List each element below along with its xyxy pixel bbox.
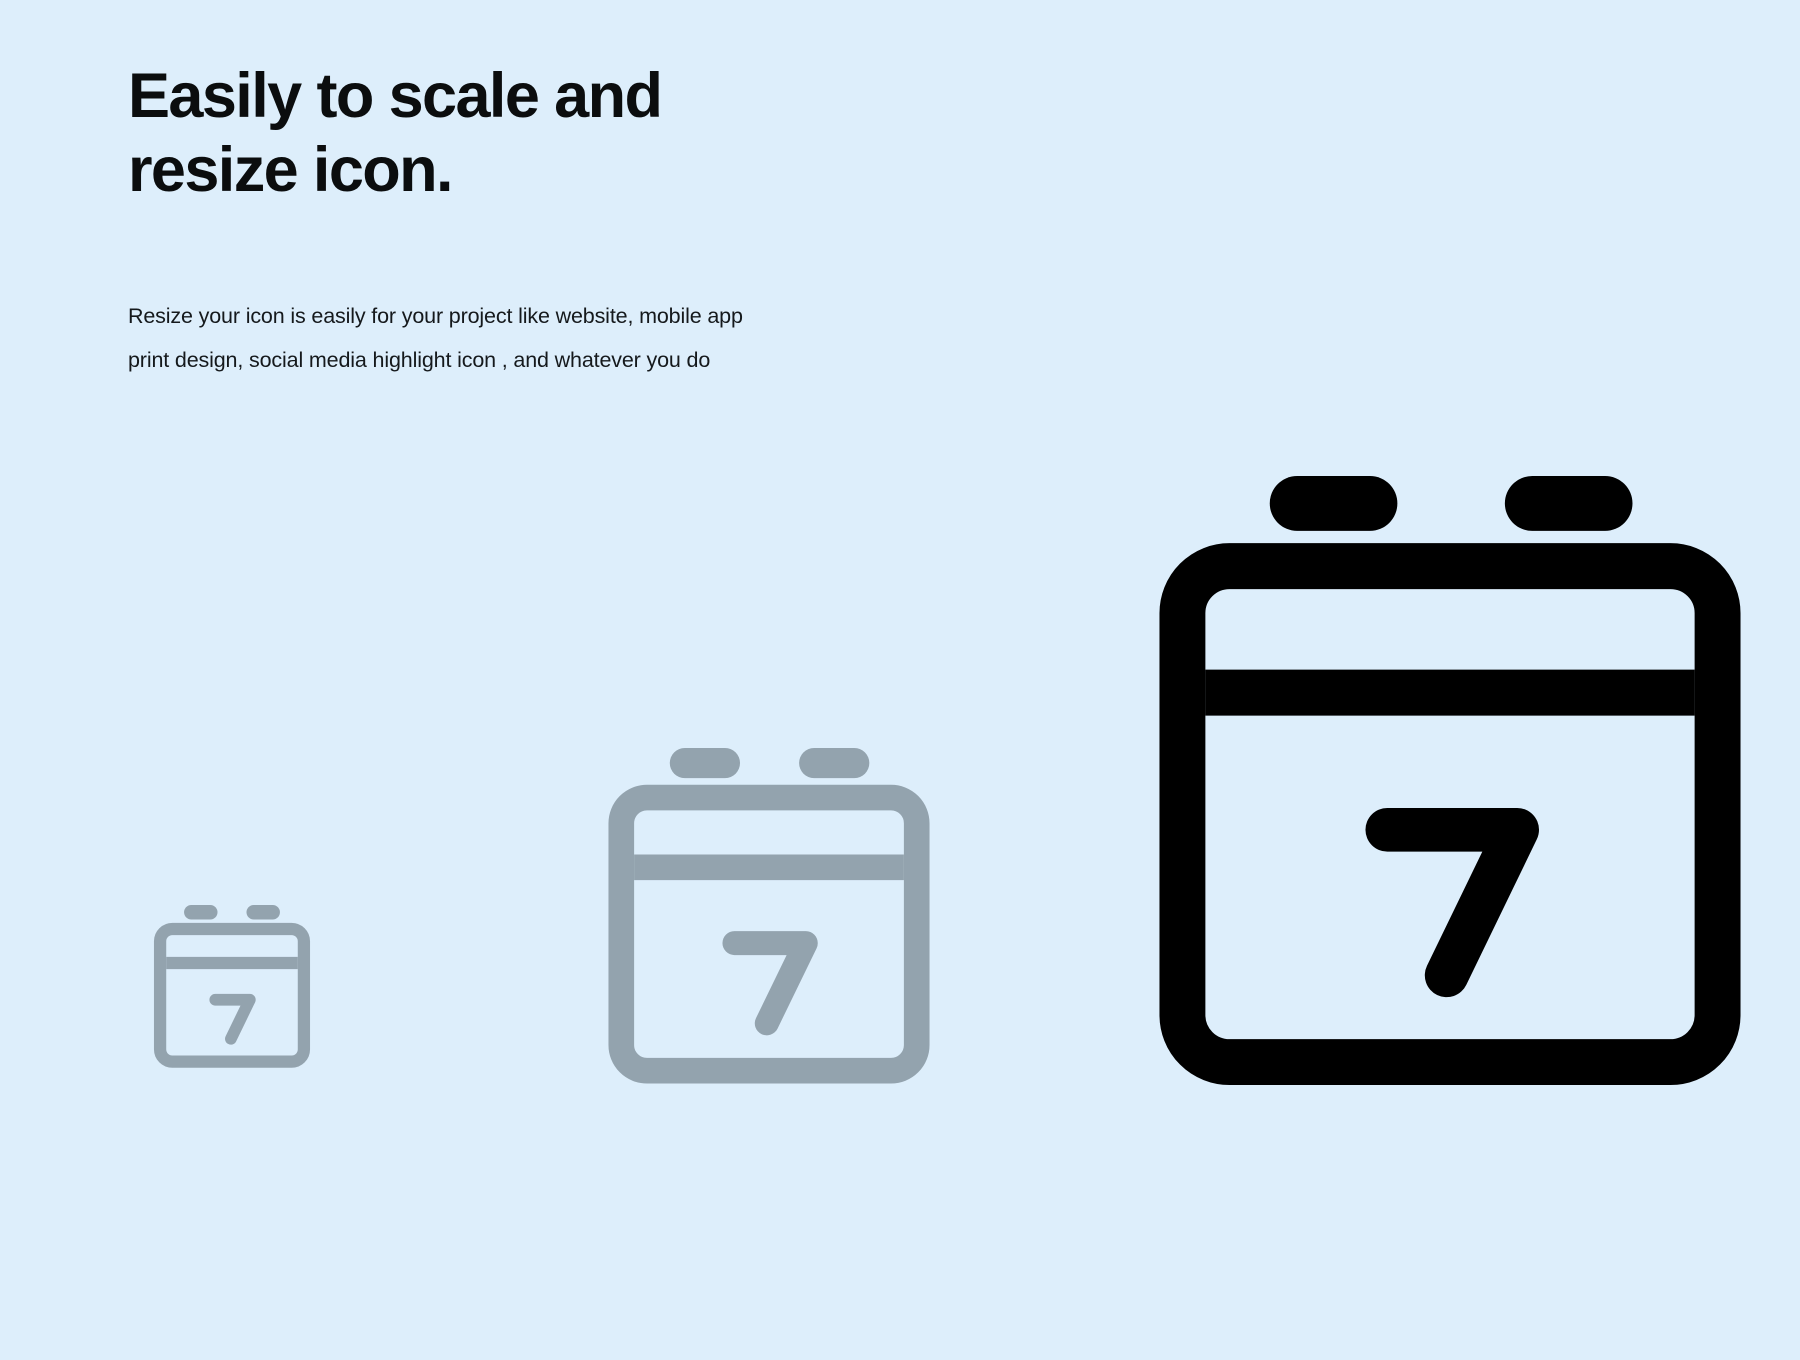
calendar-date-7-icon [604,748,934,1088]
calendar-date-7-icon [152,905,312,1070]
calendar-small-shape [160,905,304,1062]
icon-showcase [0,0,1800,1360]
canvas: Easily to scale and resize icon. Resize … [0,0,1800,1360]
calendar-date-7-icon [1150,476,1750,1094]
calendar-medium-shape [621,748,916,1071]
calendar-icon-medium[interactable] [604,748,934,1088]
calendar-icon-large[interactable] [1150,476,1750,1094]
calendar-large-shape [1182,476,1717,1062]
calendar-icon-small[interactable] [152,905,312,1070]
